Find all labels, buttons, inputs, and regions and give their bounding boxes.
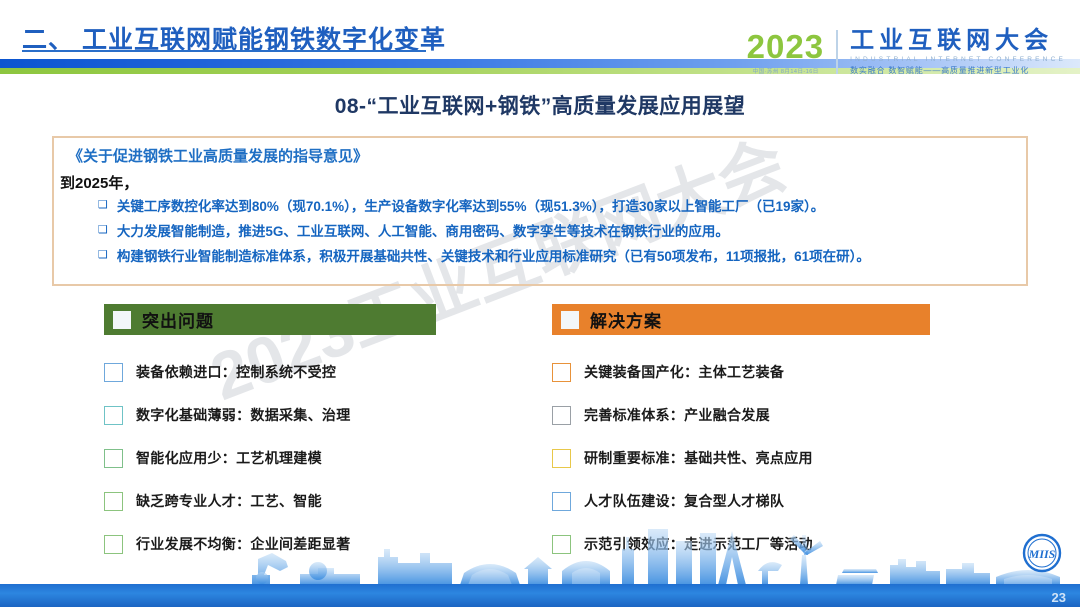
conference-logo-year-block: 2023 中国·苏州 8月14日-16日: [747, 30, 836, 75]
conference-logo-text-block: 工业互联网大会 INDUSTRIAL INTERNET CONFERENCE 数…: [850, 29, 1066, 75]
list-item: 装备依赖进口：控制系统不受控: [104, 361, 436, 383]
policy-bullet-item: ❑ 关键工序数控化率达到80%（现70.1%），生产设备数字化率达到55%（现5…: [98, 198, 1028, 216]
list-item-label: 缺乏跨专业人才：工艺、智能: [136, 491, 322, 511]
checkbox-icon[interactable]: [552, 363, 571, 382]
bullet-square-icon: ❑: [98, 198, 108, 213]
solution-list: 关键装备国产化：主体工艺装备 完善标准体系：产业融合发展 研制重要标准：基础共性…: [552, 361, 930, 555]
policy-document-title: 《关于促进钢铁工业高质量发展的指导意见》: [68, 145, 368, 166]
footer-band: [0, 584, 1080, 607]
page-number: 23: [1052, 590, 1066, 605]
checkbox-icon[interactable]: [104, 492, 123, 511]
policy-bullet-list: ❑ 关键工序数控化率达到80%（现70.1%），生产设备数字化率达到55%（现5…: [98, 198, 1028, 274]
checkbox-icon[interactable]: [104, 363, 123, 382]
list-item: 缺乏跨专业人才：工艺、智能: [104, 490, 436, 512]
policy-bullet-item: ❑ 大力发展智能制造，推进5G、工业互联网、人工智能、商用密码、数字孪生等技术在…: [98, 223, 1028, 241]
column-problems: 突出问题 装备依赖进口：控制系统不受控 数字化基础薄弱：数据采集、治理 智能化应…: [104, 304, 436, 576]
policy-subtitle: 到2025年，: [60, 172, 138, 193]
column-solutions: 解决方案 关键装备国产化：主体工艺装备 完善标准体系：产业融合发展 研制重要标准…: [552, 304, 930, 576]
list-item-label: 完善标准体系：产业融合发展: [584, 405, 770, 425]
list-item-label: 装备依赖进口：控制系统不受控: [136, 362, 336, 382]
policy-bullet-item: ❑ 构建钢铁行业智能制造标准体系，积极开展基础共性、关键技术和行业应用标准研究（…: [98, 248, 1028, 266]
checkbox-icon[interactable]: [104, 535, 123, 554]
checkbox-icon[interactable]: [104, 406, 123, 425]
list-item: 数字化基础薄弱：数据采集、治理: [104, 404, 436, 426]
list-item-label: 研制重要标准：基础共性、亮点应用: [584, 448, 813, 468]
page-title: 08-“工业互联网+钢铁”高质量发展应用展望: [0, 90, 1080, 120]
list-item: 人才队伍建设：复合型人才梯队: [552, 490, 930, 512]
problem-list: 装备依赖进口：控制系统不受控 数字化基础薄弱：数据采集、治理 智能化应用少：工艺…: [104, 361, 436, 555]
list-item-label: 人才队伍建设：复合型人才梯队: [584, 491, 784, 511]
bullet-square-icon: ❑: [98, 248, 108, 263]
conference-slogan: 数实融合 数智赋能——高质量推进新型工业化: [850, 67, 1066, 75]
conference-name-cn: 工业互联网大会: [850, 29, 1066, 53]
checkbox-icon[interactable]: [552, 492, 571, 511]
column-solutions-title: 解决方案: [590, 307, 662, 332]
column-problems-header: 突出问题: [104, 304, 436, 335]
list-item-label: 数字化基础薄弱：数据采集、治理: [136, 405, 351, 425]
list-item-label: 关键装备国产化：主体工艺装备: [584, 362, 784, 382]
miis-logo-text: MIIS: [1028, 547, 1056, 561]
checkbox-icon[interactable]: [552, 449, 571, 468]
header-square-icon: [561, 311, 579, 329]
conference-logo: 2023 中国·苏州 8月14日-16日 工业互联网大会 INDUSTRIAL …: [747, 26, 1066, 78]
checkbox-icon[interactable]: [552, 535, 571, 554]
list-item: 关键装备国产化：主体工艺装备: [552, 361, 930, 383]
list-item: 研制重要标准：基础共性、亮点应用: [552, 447, 930, 469]
list-item: 示范引领效应：走进示范工厂等活动: [552, 533, 930, 555]
list-item: 智能化应用少：工艺机理建模: [104, 447, 436, 469]
header-square-icon: [113, 311, 131, 329]
policy-bullet-text: 大力发展智能制造，推进5G、工业互联网、人工智能、商用密码、数字孪生等技术在钢铁…: [117, 223, 729, 241]
column-solutions-header: 解决方案: [552, 304, 930, 335]
section-title-underline: [22, 50, 426, 52]
conference-logo-date: 中国·苏州 8月14日-16日: [750, 66, 821, 74]
column-problems-title: 突出问题: [142, 307, 214, 332]
list-item-label: 行业发展不均衡：企业间差距显著: [136, 534, 351, 554]
bullet-square-icon: ❑: [98, 223, 108, 238]
slide-root: 二、 工业互联网赋能钢铁数字化变革 2023 中国·苏州 8月14日-16日 工…: [0, 0, 1080, 607]
list-item-label: 示范引领效应：走进示范工厂等活动: [584, 534, 813, 554]
checkbox-icon[interactable]: [552, 406, 571, 425]
conference-logo-year: 2023: [747, 30, 824, 63]
list-item: 行业发展不均衡：企业间差距显著: [104, 533, 436, 555]
list-item-label: 智能化应用少：工艺机理建模: [136, 448, 322, 468]
conference-logo-divider: [836, 30, 838, 74]
policy-bullet-text: 构建钢铁行业智能制造标准体系，积极开展基础共性、关键技术和行业应用标准研究（已有…: [117, 248, 870, 266]
policy-bullet-text: 关键工序数控化率达到80%（现70.1%），生产设备数字化率达到55%（现51.…: [117, 198, 824, 216]
miis-logo: MIIS: [1022, 533, 1062, 573]
list-item: 完善标准体系：产业融合发展: [552, 404, 930, 426]
conference-name-en: INDUSTRIAL INTERNET CONFERENCE: [850, 57, 1066, 64]
checkbox-icon[interactable]: [104, 449, 123, 468]
